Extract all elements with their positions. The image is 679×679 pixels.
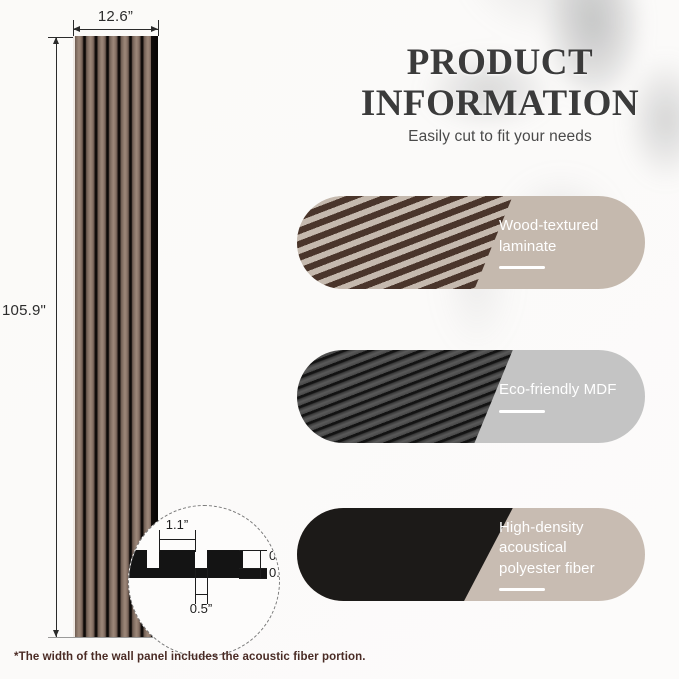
- page-title: PRODUCT INFORMATION: [340, 42, 660, 125]
- slat-gap-extension-right: [207, 568, 208, 604]
- panel-width-label: 12.6”: [73, 8, 158, 25]
- backing-extension-bottom: [239, 578, 267, 579]
- feature-underline-rule: [499, 588, 545, 591]
- cross-section-slat: [207, 550, 243, 568]
- slat-height-extension-top: [239, 550, 267, 551]
- feature-pill-polyester-fiber: High-density acoustical polyester fiber: [297, 508, 645, 601]
- panel-left-edge: [73, 36, 75, 637]
- slat-gap-extension-left: [195, 568, 196, 604]
- feature-underline-rule: [499, 266, 545, 269]
- width-extension-line-right: [158, 20, 159, 36]
- slat-width-extension-right: [195, 530, 196, 552]
- cross-section-detail-callout: 1.1” 0.5” 0.5” 0.3”: [128, 505, 280, 657]
- width-dimension-arrow: [73, 29, 158, 30]
- cross-section-slat: [159, 550, 195, 568]
- panel-height-label: 105.9": [2, 302, 46, 319]
- slat-width-label: 1.1”: [145, 517, 209, 532]
- slat-width-extension-left: [159, 530, 160, 552]
- slat-gap-label: 0.5”: [155, 601, 247, 616]
- feature-label: Wood-textured laminate: [499, 216, 639, 257]
- slat-width-dimension-line: [159, 539, 196, 540]
- slat-height-dimension-line: [260, 550, 261, 568]
- feature-pill-content: Wood-textured laminate: [499, 196, 639, 289]
- feature-pill-content: Eco-friendly MDF: [499, 350, 639, 443]
- backing-thickness-dimension-line: [260, 568, 261, 578]
- slat-height-extension-bottom: [239, 568, 267, 569]
- backing-thickness-label: 0.3”: [269, 565, 280, 580]
- cross-section-slat: [128, 550, 147, 568]
- footnote-text: *The width of the wall panel includes th…: [14, 651, 366, 663]
- feature-label: Eco-friendly MDF: [499, 380, 639, 400]
- feature-pill-content: High-density acoustical polyester fiber: [499, 508, 639, 601]
- slat-height-label: 0.5”: [269, 548, 280, 563]
- feature-pill-eco-mdf: Eco-friendly MDF: [297, 350, 645, 443]
- feature-label: High-density acoustical polyester fiber: [499, 518, 639, 579]
- product-information-infographic: 12.6” 105.9" 1.1” 0.5” 0.5” 0.3” *The wi…: [0, 0, 679, 679]
- feature-pill-wood-laminate: Wood-textured laminate: [297, 196, 645, 289]
- height-dimension-arrow: [56, 37, 57, 637]
- cross-section-backing: [128, 568, 267, 578]
- slat-gap-dimension-line: [195, 594, 208, 595]
- page-subtitle: Easily cut to fit your needs: [340, 128, 660, 146]
- feature-underline-rule: [499, 410, 545, 413]
